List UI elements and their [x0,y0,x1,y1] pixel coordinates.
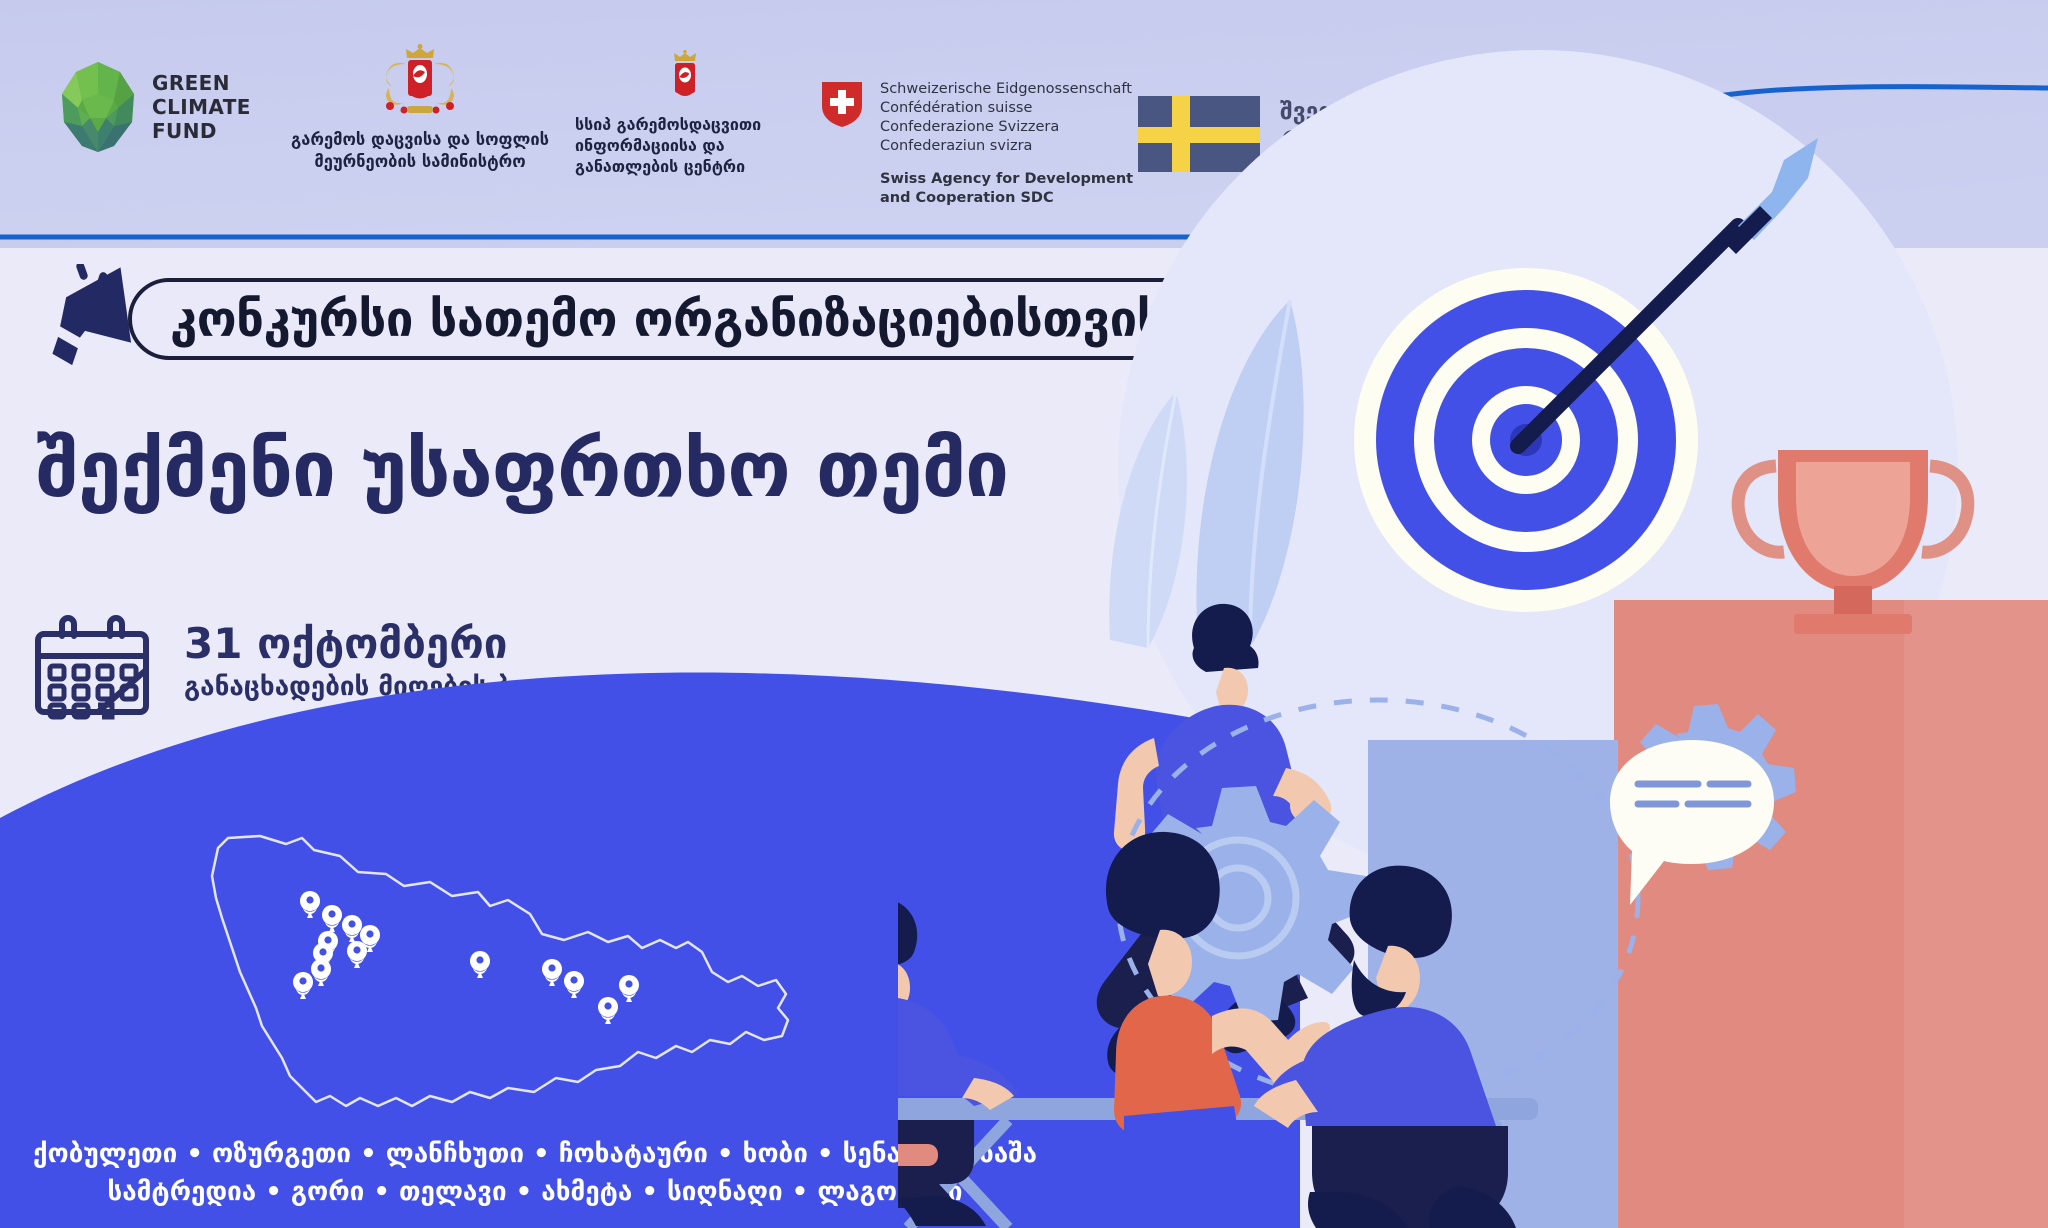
location-pin-icon [293,891,639,1024]
illustration-scene [898,0,2048,1228]
georgia-shield-icon [667,50,703,108]
podium-step-tall-side [1904,600,2048,1228]
logo-ministry-environment-agriculture[interactable]: გარემოს დაცვისა და სოფლის მეურნეობის სამ… [285,44,555,173]
neaic-wordmark: სსიპ გარემოსდაცვითი ინფორმაციისა და განა… [575,114,795,177]
ministry-wordmark: გარემოს დაცვისა და სოფლის მეურნეობის სამ… [285,129,555,173]
logo-environmental-info-education-center[interactable]: სსიპ გარემოსდაცვითი ინფორმაციისა და განა… [570,50,800,177]
seated-man [898,898,1018,1226]
podium-step-tall [1614,600,1904,1228]
logo-green-climate-fund[interactable]: GREEN CLIMATE FUND [58,60,251,154]
georgia-coat-of-arms-icon [377,44,463,122]
gcf-wordmark: GREEN CLIMATE FUND [152,71,251,143]
map-pin-layer [190,830,840,1130]
gcf-gem-icon [58,60,138,154]
poster-canvas: GREEN CLIMATE FUND [0,0,2048,1228]
swiss-shield-icon [820,80,864,128]
page-title: შექმენი უსაფრთხო თემი [36,425,1008,515]
